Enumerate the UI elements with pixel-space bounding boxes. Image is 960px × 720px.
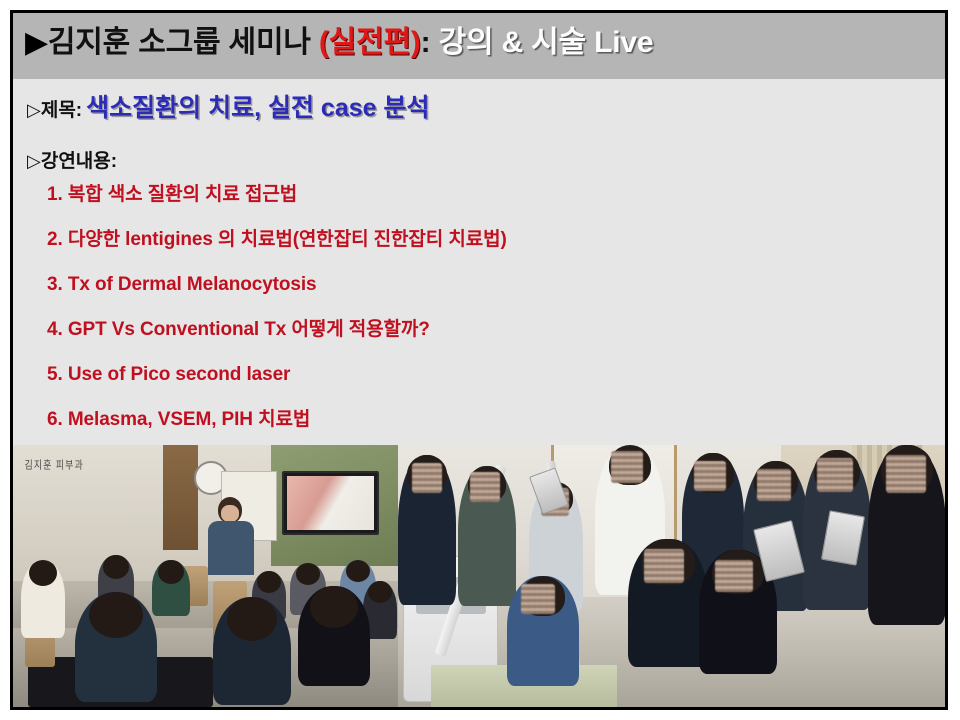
section-row: ▷강연내용: [27, 147, 117, 177]
triangle-right-icon: ▶ [25, 26, 48, 59]
photo-strip: 김지훈 피부과 [13, 445, 945, 707]
slide-canvas: ▶김지훈 소그룹 세미나 (실전편): 강의 & 시술 Live ▷제목:색소질… [0, 0, 960, 720]
audience-group [13, 445, 398, 707]
agenda-list: 1. 복합 색소 질환의 치료 접근법 2. 다양한 lentigines 의 … [47, 183, 927, 453]
title-part-black: 김지훈 소그룹 세미나 [48, 26, 311, 59]
subtitle-value: 색소질환의 치료, 실전 case 분석 [86, 94, 429, 122]
title-part-red: (실전편) [319, 26, 421, 59]
slide-title: ▶김지훈 소그룹 세미나 (실전편): 강의 & 시술 Live [25, 21, 653, 65]
slide-body: ▷제목:색소질환의 치료, 실전 case 분석 ▷강연내용: 1. 복합 색소… [13, 79, 945, 707]
slide-frame: ▶김지훈 소그룹 세미나 (실전편): 강의 & 시술 Live ▷제목:색소질… [10, 10, 948, 710]
hands-on-procedure-photo [398, 445, 945, 707]
triangle-outline-icon: ▷ [27, 100, 41, 120]
subtitle-row: ▷제목:색소질환의 치료, 실전 case 분석 [27, 93, 430, 126]
agenda-item: 2. 다양한 lentigines 의 치료법(연한잡티 진한잡티 치료법) [47, 228, 927, 273]
triangle-outline-icon-2: ▷ [27, 151, 41, 171]
agenda-item: 4. GPT Vs Conventional Tx 어떻게 적용할까? [47, 318, 927, 363]
section-label: 강연내용: [41, 151, 117, 172]
agenda-item: 3. Tx of Dermal Melanocytosis [47, 273, 927, 318]
subtitle-label: 제목: [41, 100, 82, 121]
agenda-item: 5. Use of Pico second laser [47, 363, 927, 408]
title-colon: : [421, 26, 431, 59]
agenda-item: 1. 복합 색소 질환의 치료 접근법 [47, 183, 927, 228]
title-part-white: 강의 & 시술 Live [439, 26, 654, 59]
seminar-lecture-photo: 김지훈 피부과 [13, 445, 398, 707]
slide-header-band: ▶김지훈 소그룹 세미나 (실전편): 강의 & 시술 Live [13, 13, 945, 79]
